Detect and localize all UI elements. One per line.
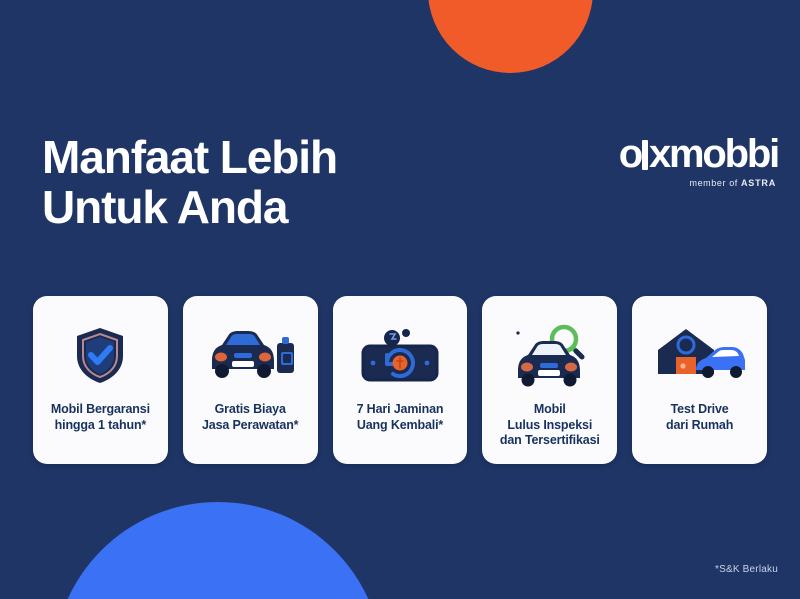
logo-letter-o: o <box>619 132 641 176</box>
orange-circle-decoration <box>428 0 593 73</box>
headline-line-1: Manfaat Lebih <box>42 131 337 183</box>
headline-line-2: Untuk Anda <box>42 182 337 232</box>
benefit-card-label: Test Drive dari Rumah <box>660 402 739 433</box>
shield-check-icon <box>33 322 168 388</box>
terms-footnote: *S&K Berlaku <box>715 564 778 575</box>
logo-tagline: member of ASTRA <box>619 178 776 188</box>
car-maintenance-icon <box>183 322 318 388</box>
benefit-card-inspection[interactable]: Mobil Lulus Inspeksi dan Tersertifikasi <box>482 296 617 464</box>
logo-tagline-brand: ASTRA <box>741 178 776 188</box>
card2-line1: Gratis Biaya <box>215 402 286 416</box>
home-test-drive-icon <box>632 322 767 388</box>
card1-line1: Mobil Bergaransi <box>51 402 150 416</box>
card4-line2: Lulus Inspeksi <box>507 418 592 432</box>
benefit-card-label: Mobil Lulus Inspeksi dan Tersertifikasi <box>494 402 606 449</box>
card3-line2: Uang Kembali* <box>357 418 443 432</box>
benefit-card-test-drive[interactable]: Test Drive dari Rumah <box>632 296 767 464</box>
benefit-card-money-back[interactable]: 7 Hari Jaminan Uang Kembali* <box>333 296 468 464</box>
benefit-card-maintenance[interactable]: Gratis Biaya Jasa Perawatan* <box>183 296 318 464</box>
card3-line1: 7 Hari Jaminan <box>357 402 444 416</box>
logo-letter-x: x <box>649 132 669 176</box>
car-inspection-icon <box>482 322 617 388</box>
benefit-card-label: 7 Hari Jaminan Uang Kembali* <box>351 402 450 433</box>
poster-canvas: Manfaat Lebih Untuk Anda oxmobbi member … <box>0 0 800 599</box>
blue-circle-decoration <box>53 502 383 599</box>
card5-line1: Test Drive <box>671 402 729 416</box>
benefit-card-list: Mobil Bergaransi hingga 1 tahun* <box>33 296 767 464</box>
benefit-card-warranty[interactable]: Mobil Bergaransi hingga 1 tahun* <box>33 296 168 464</box>
logo-tagline-prefix: member of <box>689 178 741 188</box>
logo-bar <box>642 140 648 170</box>
logo-wordmark: oxmobbi <box>619 134 778 174</box>
benefit-card-label: Mobil Bergaransi hingga 1 tahun* <box>45 402 156 433</box>
brand-logo: oxmobbi member of ASTRA <box>619 134 778 188</box>
card4-line1: Mobil <box>534 402 566 416</box>
card2-line2: Jasa Perawatan* <box>202 418 298 432</box>
card4-line3: dan Tersertifikasi <box>500 433 600 447</box>
card1-line2: hingga 1 tahun* <box>55 418 147 432</box>
benefit-card-label: Gratis Biaya Jasa Perawatan* <box>196 402 304 433</box>
page-title: Manfaat Lebih Untuk Anda <box>42 132 337 232</box>
money-back-icon <box>333 322 468 388</box>
card5-line2: dari Rumah <box>666 418 733 432</box>
logo-mobbi: mobbi <box>669 132 778 176</box>
